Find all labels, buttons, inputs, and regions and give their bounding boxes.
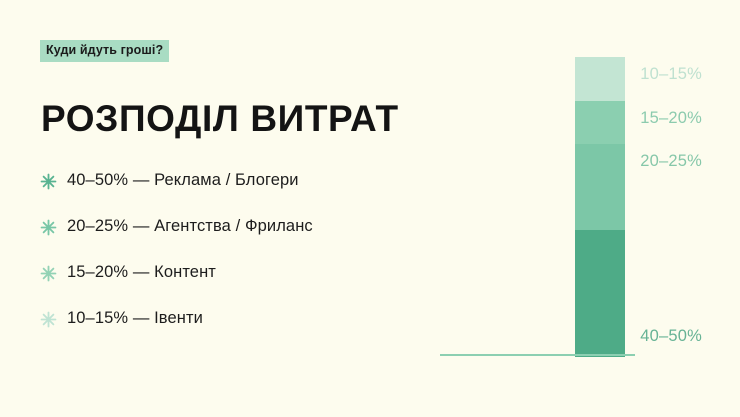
bar-segment [575,144,625,230]
asterisk-star-icon [40,173,57,190]
bar-segment-label: 20–25% [640,153,702,170]
list-item: 40–50% — Реклама / Блогери [40,157,460,203]
list-item-label: 10–15% — Івенти [67,310,203,327]
asterisk-star-glyph [40,265,57,282]
asterisk-star-glyph [40,173,57,190]
asterisk-star-icon [40,219,57,236]
list-item-label: 15–20% — Контент [67,264,216,281]
baseline-axis [440,354,635,356]
list-item-label: 40–50% — Реклама / Блогери [67,172,299,189]
list-item: 20–25% — Агентства / Фриланс [40,203,460,249]
page-title: РОЗПОДІЛ ВИТРАТ [41,100,399,137]
bar-segment [575,101,625,145]
bar-segment [575,57,625,101]
asterisk-star-glyph [40,219,57,236]
list-item-label: 20–25% — Агентства / Фриланс [67,218,313,235]
asterisk-star-icon [40,265,57,282]
asterisk-star-icon [40,311,57,328]
slide-canvas: Куди йдуть гроші? РОЗПОДІЛ ВИТРАТ 40–50%… [0,0,740,417]
list-item: 10–15% — Івенти [40,295,460,341]
left-content-column: Куди йдуть гроші? РОЗПОДІЛ ВИТРАТ 40–50%… [40,40,460,62]
bar-segment-label: 15–20% [640,110,702,127]
stacked-bar-column [575,57,625,357]
asterisk-star-glyph [40,311,57,328]
kicker-badge: Куди йдуть гроші? [40,40,169,62]
legend-list: 40–50% — Реклама / Блогери 20–25% — Аген… [40,157,460,341]
bar-segment-label: 10–15% [640,66,702,83]
bar-segment-label: 40–50% [640,328,702,345]
bar-segment [575,230,625,358]
list-item: 15–20% — Контент [40,249,460,295]
stacked-bar-chart: 10–15% 15–20% 20–25% 40–50% [430,40,710,380]
